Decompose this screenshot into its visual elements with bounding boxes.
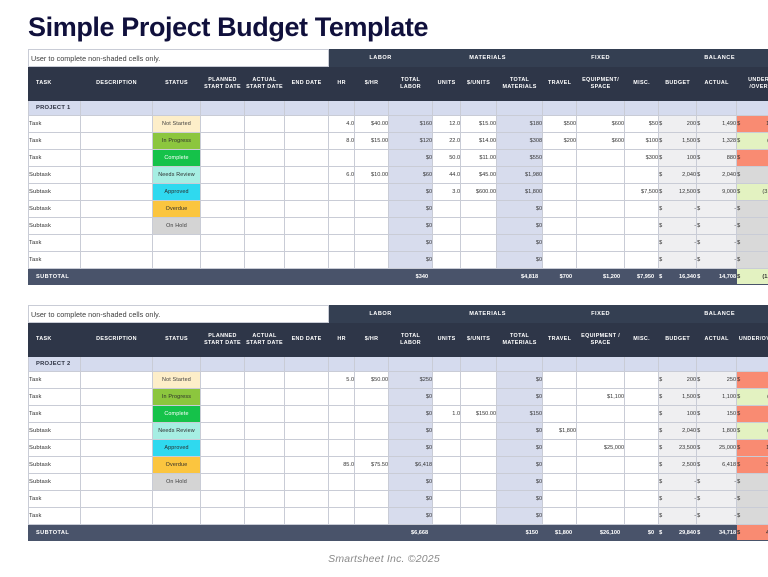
unit-cost-cell[interactable]: [461, 201, 497, 218]
under-over-cell[interactable]: $(3,500): [737, 184, 768, 201]
unit-cost-cell[interactable]: [461, 440, 497, 457]
unit-cost-cell[interactable]: [461, 474, 497, 491]
end-date-cell[interactable]: [285, 218, 329, 235]
units-cell[interactable]: 44.0: [433, 167, 461, 184]
units-cell[interactable]: 12.0: [433, 116, 461, 133]
travel-cell[interactable]: [543, 150, 577, 167]
misc-cell[interactable]: $100: [625, 133, 659, 150]
hours-cell[interactable]: [329, 389, 355, 406]
hourly-rate-cell[interactable]: [355, 252, 389, 269]
unit-cost-cell[interactable]: $150.00: [461, 406, 497, 423]
travel-cell[interactable]: [543, 491, 577, 508]
description-cell[interactable]: [81, 423, 153, 440]
description-cell[interactable]: [81, 508, 153, 525]
misc-cell[interactable]: [625, 491, 659, 508]
end-date-cell[interactable]: [285, 508, 329, 525]
hours-cell[interactable]: [329, 423, 355, 440]
planned-start-date-cell[interactable]: [201, 389, 245, 406]
under-over-cell[interactable]: $(240): [737, 423, 768, 440]
total-materials-cell[interactable]: $0: [497, 389, 543, 406]
description-cell[interactable]: [81, 372, 153, 389]
end-date-cell[interactable]: [285, 406, 329, 423]
status-cell[interactable]: In Progress: [153, 133, 201, 150]
planned-start-date-cell[interactable]: [201, 440, 245, 457]
budget-cell[interactable]: $2,040: [659, 167, 697, 184]
status-cell[interactable]: [153, 252, 201, 269]
total-labor-cell[interactable]: $250: [389, 372, 433, 389]
equipment-cell[interactable]: [577, 406, 625, 423]
misc-cell[interactable]: [625, 218, 659, 235]
actual-start-date-cell[interactable]: [245, 372, 285, 389]
travel-cell[interactable]: $1,800: [543, 423, 577, 440]
subtotal-travel-cell[interactable]: $1,800: [543, 525, 577, 541]
task-name-cell[interactable]: Task: [29, 372, 81, 389]
description-cell[interactable]: [81, 235, 153, 252]
total-labor-cell[interactable]: $0: [389, 184, 433, 201]
units-cell[interactable]: [433, 474, 461, 491]
hours-cell[interactable]: [329, 252, 355, 269]
total-materials-cell[interactable]: $0: [497, 491, 543, 508]
total-materials-cell[interactable]: $0: [497, 218, 543, 235]
travel-cell[interactable]: [543, 201, 577, 218]
total-materials-cell[interactable]: $0: [497, 474, 543, 491]
equipment-cell[interactable]: [577, 184, 625, 201]
actual-start-date-cell[interactable]: [245, 491, 285, 508]
equipment-cell[interactable]: [577, 508, 625, 525]
budget-cell[interactable]: $12,500: [659, 184, 697, 201]
total-labor-cell[interactable]: $0: [389, 252, 433, 269]
actual-cell[interactable]: $-: [697, 235, 737, 252]
subtotal-under-over-cell[interactable]: $(1,632): [737, 269, 768, 285]
hours-cell[interactable]: [329, 201, 355, 218]
subtotal-total-labor-cell[interactable]: $340: [389, 269, 433, 285]
total-materials-cell[interactable]: $0: [497, 201, 543, 218]
misc-cell[interactable]: [625, 252, 659, 269]
hours-cell[interactable]: [329, 440, 355, 457]
total-materials-cell[interactable]: $0: [497, 508, 543, 525]
hourly-rate-cell[interactable]: $15.00: [355, 133, 389, 150]
hourly-rate-cell[interactable]: [355, 423, 389, 440]
planned-start-date-cell[interactable]: [201, 218, 245, 235]
units-cell[interactable]: [433, 218, 461, 235]
hourly-rate-cell[interactable]: [355, 389, 389, 406]
budget-cell[interactable]: $23,500: [659, 440, 697, 457]
travel-cell[interactable]: [543, 508, 577, 525]
hourly-rate-cell[interactable]: [355, 218, 389, 235]
actual-start-date-cell[interactable]: [245, 508, 285, 525]
end-date-cell[interactable]: [285, 235, 329, 252]
actual-cell[interactable]: $1,800: [697, 423, 737, 440]
equipment-cell[interactable]: [577, 235, 625, 252]
units-cell[interactable]: 1.0: [433, 406, 461, 423]
equipment-cell[interactable]: [577, 457, 625, 474]
budget-cell[interactable]: $-: [659, 252, 697, 269]
actual-start-date-cell[interactable]: [245, 457, 285, 474]
travel-cell[interactable]: [543, 389, 577, 406]
travel-cell[interactable]: [543, 218, 577, 235]
budget-cell[interactable]: $2,040: [659, 423, 697, 440]
unit-cost-cell[interactable]: $11.00: [461, 150, 497, 167]
hours-cell[interactable]: 5.0: [329, 372, 355, 389]
subtask-name-cell[interactable]: Subtask: [29, 457, 81, 474]
hourly-rate-cell[interactable]: [355, 406, 389, 423]
status-cell[interactable]: On Hold: [153, 218, 201, 235]
actual-cell[interactable]: $2,040: [697, 167, 737, 184]
budget-cell[interactable]: $200: [659, 372, 697, 389]
subtotal-total-materials-cell[interactable]: $4,818: [497, 269, 543, 285]
end-date-cell[interactable]: [285, 491, 329, 508]
status-cell[interactable]: [153, 491, 201, 508]
unit-cost-cell[interactable]: [461, 457, 497, 474]
under-over-cell[interactable]: $-: [737, 218, 768, 235]
hourly-rate-cell[interactable]: [355, 184, 389, 201]
task-name-cell[interactable]: Task: [29, 133, 81, 150]
subtotal-under-over-cell[interactable]: $4,878: [737, 525, 768, 541]
actual-start-date-cell[interactable]: [245, 423, 285, 440]
equipment-cell[interactable]: $25,000: [577, 440, 625, 457]
hourly-rate-cell[interactable]: $50.00: [355, 372, 389, 389]
unit-cost-cell[interactable]: [461, 252, 497, 269]
total-materials-cell[interactable]: $1,800: [497, 184, 543, 201]
total-labor-cell[interactable]: $6,418: [389, 457, 433, 474]
budget-cell[interactable]: $200: [659, 116, 697, 133]
planned-start-date-cell[interactable]: [201, 423, 245, 440]
status-cell[interactable]: Overdue: [153, 457, 201, 474]
description-cell[interactable]: [81, 252, 153, 269]
total-materials-cell[interactable]: $308: [497, 133, 543, 150]
travel-cell[interactable]: [543, 457, 577, 474]
description-cell[interactable]: [81, 133, 153, 150]
total-labor-cell[interactable]: $0: [389, 406, 433, 423]
under-over-cell[interactable]: $-: [737, 474, 768, 491]
planned-start-date-cell[interactable]: [201, 201, 245, 218]
equipment-cell[interactable]: [577, 150, 625, 167]
equipment-cell[interactable]: [577, 372, 625, 389]
actual-cell[interactable]: $1,100: [697, 389, 737, 406]
actual-cell[interactable]: $-: [697, 491, 737, 508]
hours-cell[interactable]: [329, 184, 355, 201]
status-cell[interactable]: Not Started: [153, 372, 201, 389]
total-materials-cell[interactable]: $1,980: [497, 167, 543, 184]
hours-cell[interactable]: [329, 491, 355, 508]
status-cell[interactable]: Approved: [153, 440, 201, 457]
units-cell[interactable]: 3.0: [433, 184, 461, 201]
actual-cell[interactable]: $1,490: [697, 116, 737, 133]
hours-cell[interactable]: [329, 218, 355, 235]
task-name-cell[interactable]: Task: [29, 252, 81, 269]
misc-cell[interactable]: [625, 474, 659, 491]
travel-cell[interactable]: $200: [543, 133, 577, 150]
description-cell[interactable]: [81, 440, 153, 457]
misc-cell[interactable]: [625, 167, 659, 184]
end-date-cell[interactable]: [285, 423, 329, 440]
unit-cost-cell[interactable]: $600.00: [461, 184, 497, 201]
hourly-rate-cell[interactable]: [355, 474, 389, 491]
hours-cell[interactable]: 4.0: [329, 116, 355, 133]
hours-cell[interactable]: 85.0: [329, 457, 355, 474]
travel-cell[interactable]: [543, 372, 577, 389]
unit-cost-cell[interactable]: [461, 491, 497, 508]
description-cell[interactable]: [81, 491, 153, 508]
actual-cell[interactable]: $9,000: [697, 184, 737, 201]
misc-cell[interactable]: $50: [625, 116, 659, 133]
end-date-cell[interactable]: [285, 389, 329, 406]
unit-cost-cell[interactable]: [461, 372, 497, 389]
task-name-cell[interactable]: Task: [29, 406, 81, 423]
description-cell[interactable]: [81, 474, 153, 491]
hours-cell[interactable]: [329, 508, 355, 525]
subtotal-equipment-cell[interactable]: $26,100: [577, 525, 625, 541]
hours-cell[interactable]: [329, 150, 355, 167]
travel-cell[interactable]: [543, 474, 577, 491]
actual-start-date-cell[interactable]: [245, 150, 285, 167]
actual-start-date-cell[interactable]: [245, 133, 285, 150]
end-date-cell[interactable]: [285, 372, 329, 389]
equipment-cell[interactable]: [577, 423, 625, 440]
total-materials-cell[interactable]: $0: [497, 235, 543, 252]
end-date-cell[interactable]: [285, 440, 329, 457]
units-cell[interactable]: [433, 491, 461, 508]
total-labor-cell[interactable]: $120: [389, 133, 433, 150]
status-cell[interactable]: Complete: [153, 150, 201, 167]
task-name-cell[interactable]: Task: [29, 235, 81, 252]
end-date-cell[interactable]: [285, 252, 329, 269]
travel-cell[interactable]: [543, 235, 577, 252]
under-over-cell[interactable]: $-: [737, 491, 768, 508]
subtotal-actual-cell[interactable]: $14,708: [697, 269, 737, 285]
subtask-name-cell[interactable]: Subtask: [29, 201, 81, 218]
under-over-cell[interactable]: $1,290: [737, 116, 768, 133]
actual-cell[interactable]: $250: [697, 372, 737, 389]
units-cell[interactable]: [433, 235, 461, 252]
total-labor-cell[interactable]: $0: [389, 218, 433, 235]
end-date-cell[interactable]: [285, 457, 329, 474]
description-cell[interactable]: [81, 201, 153, 218]
total-labor-cell[interactable]: $0: [389, 508, 433, 525]
hourly-rate-cell[interactable]: [355, 201, 389, 218]
status-cell[interactable]: [153, 235, 201, 252]
actual-start-date-cell[interactable]: [245, 406, 285, 423]
unit-cost-cell[interactable]: [461, 508, 497, 525]
actual-cell[interactable]: $-: [697, 474, 737, 491]
subtask-name-cell[interactable]: Subtask: [29, 184, 81, 201]
total-labor-cell[interactable]: $0: [389, 150, 433, 167]
status-cell[interactable]: Needs Review: [153, 423, 201, 440]
actual-cell[interactable]: $1,328: [697, 133, 737, 150]
equipment-cell[interactable]: $600: [577, 116, 625, 133]
budget-cell[interactable]: $-: [659, 218, 697, 235]
subtask-name-cell[interactable]: Subtask: [29, 167, 81, 184]
subtask-name-cell[interactable]: Subtask: [29, 440, 81, 457]
planned-start-date-cell[interactable]: [201, 133, 245, 150]
actual-start-date-cell[interactable]: [245, 201, 285, 218]
equipment-cell[interactable]: [577, 167, 625, 184]
actual-cell[interactable]: $-: [697, 201, 737, 218]
under-over-cell[interactable]: $(400): [737, 389, 768, 406]
hourly-rate-cell[interactable]: [355, 440, 389, 457]
units-cell[interactable]: [433, 389, 461, 406]
description-cell[interactable]: [81, 150, 153, 167]
subtotal-budget-cell[interactable]: $16,340: [659, 269, 697, 285]
hourly-rate-cell[interactable]: $10.00: [355, 167, 389, 184]
actual-start-date-cell[interactable]: [245, 167, 285, 184]
status-cell[interactable]: [153, 508, 201, 525]
under-over-cell[interactable]: $50: [737, 372, 768, 389]
planned-start-date-cell[interactable]: [201, 491, 245, 508]
unit-cost-cell[interactable]: $15.00: [461, 116, 497, 133]
travel-cell[interactable]: [543, 184, 577, 201]
misc-cell[interactable]: [625, 235, 659, 252]
total-labor-cell[interactable]: $60: [389, 167, 433, 184]
task-name-cell[interactable]: Task: [29, 116, 81, 133]
units-cell[interactable]: 50.0: [433, 150, 461, 167]
description-cell[interactable]: [81, 218, 153, 235]
under-over-cell[interactable]: $50: [737, 406, 768, 423]
status-cell[interactable]: Needs Review: [153, 167, 201, 184]
units-cell[interactable]: [433, 372, 461, 389]
end-date-cell[interactable]: [285, 201, 329, 218]
planned-start-date-cell[interactable]: [201, 167, 245, 184]
equipment-cell[interactable]: [577, 252, 625, 269]
actual-start-date-cell[interactable]: [245, 389, 285, 406]
hourly-rate-cell[interactable]: $75.50: [355, 457, 389, 474]
subtask-name-cell[interactable]: Subtask: [29, 474, 81, 491]
units-cell[interactable]: [433, 440, 461, 457]
under-over-cell[interactable]: $1,500: [737, 440, 768, 457]
equipment-cell[interactable]: [577, 218, 625, 235]
units-cell[interactable]: [433, 252, 461, 269]
unit-cost-cell[interactable]: [461, 218, 497, 235]
end-date-cell[interactable]: [285, 150, 329, 167]
hours-cell[interactable]: 6.0: [329, 167, 355, 184]
misc-cell[interactable]: $7,500: [625, 184, 659, 201]
units-cell[interactable]: 22.0: [433, 133, 461, 150]
status-cell[interactable]: Complete: [153, 406, 201, 423]
travel-cell[interactable]: [543, 406, 577, 423]
total-labor-cell[interactable]: $0: [389, 201, 433, 218]
total-labor-cell[interactable]: $0: [389, 474, 433, 491]
under-over-cell[interactable]: $3,918: [737, 457, 768, 474]
under-over-cell[interactable]: $-: [737, 252, 768, 269]
actual-start-date-cell[interactable]: [245, 116, 285, 133]
description-cell[interactable]: [81, 116, 153, 133]
end-date-cell[interactable]: [285, 167, 329, 184]
actual-cell[interactable]: $-: [697, 508, 737, 525]
planned-start-date-cell[interactable]: [201, 116, 245, 133]
misc-cell[interactable]: [625, 372, 659, 389]
budget-cell[interactable]: $1,500: [659, 133, 697, 150]
description-cell[interactable]: [81, 457, 153, 474]
hourly-rate-cell[interactable]: [355, 150, 389, 167]
budget-cell[interactable]: $1,500: [659, 389, 697, 406]
equipment-cell[interactable]: [577, 491, 625, 508]
misc-cell[interactable]: [625, 201, 659, 218]
total-materials-cell[interactable]: $150: [497, 406, 543, 423]
total-labor-cell[interactable]: $0: [389, 440, 433, 457]
hourly-rate-cell[interactable]: [355, 508, 389, 525]
actual-start-date-cell[interactable]: [245, 474, 285, 491]
status-cell[interactable]: Not Started: [153, 116, 201, 133]
planned-start-date-cell[interactable]: [201, 508, 245, 525]
total-materials-cell[interactable]: $0: [497, 457, 543, 474]
subtotal-total-materials-cell[interactable]: $150: [497, 525, 543, 541]
task-name-cell[interactable]: Task: [29, 508, 81, 525]
misc-cell[interactable]: $300: [625, 150, 659, 167]
actual-start-date-cell[interactable]: [245, 218, 285, 235]
end-date-cell[interactable]: [285, 116, 329, 133]
hourly-rate-cell[interactable]: [355, 235, 389, 252]
planned-start-date-cell[interactable]: [201, 457, 245, 474]
description-cell[interactable]: [81, 167, 153, 184]
budget-cell[interactable]: $-: [659, 491, 697, 508]
unit-cost-cell[interactable]: $14.00: [461, 133, 497, 150]
budget-cell[interactable]: $100: [659, 150, 697, 167]
subtotal-budget-cell[interactable]: $29,840: [659, 525, 697, 541]
under-over-cell[interactable]: $-: [737, 201, 768, 218]
actual-start-date-cell[interactable]: [245, 252, 285, 269]
misc-cell[interactable]: [625, 406, 659, 423]
task-name-cell[interactable]: Task: [29, 150, 81, 167]
task-name-cell[interactable]: Task: [29, 389, 81, 406]
misc-cell[interactable]: [625, 457, 659, 474]
subtotal-travel-cell[interactable]: $700: [543, 269, 577, 285]
total-materials-cell[interactable]: $0: [497, 372, 543, 389]
equipment-cell[interactable]: $1,100: [577, 389, 625, 406]
total-materials-cell[interactable]: $0: [497, 252, 543, 269]
hours-cell[interactable]: [329, 235, 355, 252]
end-date-cell[interactable]: [285, 184, 329, 201]
subtotal-total-labor-cell[interactable]: $6,668: [389, 525, 433, 541]
planned-start-date-cell[interactable]: [201, 372, 245, 389]
unit-cost-cell[interactable]: $45.00: [461, 167, 497, 184]
actual-cell[interactable]: $150: [697, 406, 737, 423]
misc-cell[interactable]: [625, 508, 659, 525]
total-materials-cell[interactable]: $0: [497, 440, 543, 457]
total-labor-cell[interactable]: $0: [389, 389, 433, 406]
actual-cell[interactable]: $-: [697, 252, 737, 269]
hourly-rate-cell[interactable]: [355, 491, 389, 508]
hourly-rate-cell[interactable]: $40.00: [355, 116, 389, 133]
actual-cell[interactable]: $-: [697, 218, 737, 235]
hours-cell[interactable]: [329, 474, 355, 491]
unit-cost-cell[interactable]: [461, 235, 497, 252]
subtask-name-cell[interactable]: Subtask: [29, 218, 81, 235]
planned-start-date-cell[interactable]: [201, 184, 245, 201]
status-cell[interactable]: In Progress: [153, 389, 201, 406]
budget-cell[interactable]: $-: [659, 201, 697, 218]
under-over-cell[interactable]: $(172): [737, 133, 768, 150]
misc-cell[interactable]: [625, 389, 659, 406]
task-name-cell[interactable]: Task: [29, 491, 81, 508]
equipment-cell[interactable]: [577, 474, 625, 491]
units-cell[interactable]: [433, 201, 461, 218]
planned-start-date-cell[interactable]: [201, 150, 245, 167]
actual-start-date-cell[interactable]: [245, 440, 285, 457]
units-cell[interactable]: [433, 457, 461, 474]
subtotal-equipment-cell[interactable]: $1,200: [577, 269, 625, 285]
under-over-cell[interactable]: $780: [737, 150, 768, 167]
travel-cell[interactable]: [543, 440, 577, 457]
description-cell[interactable]: [81, 406, 153, 423]
status-cell[interactable]: Overdue: [153, 201, 201, 218]
budget-cell[interactable]: $100: [659, 406, 697, 423]
subtotal-misc-cell[interactable]: $0: [625, 525, 659, 541]
planned-start-date-cell[interactable]: [201, 252, 245, 269]
actual-start-date-cell[interactable]: [245, 184, 285, 201]
status-cell[interactable]: On Hold: [153, 474, 201, 491]
total-labor-cell[interactable]: $0: [389, 423, 433, 440]
total-labor-cell[interactable]: $160: [389, 116, 433, 133]
